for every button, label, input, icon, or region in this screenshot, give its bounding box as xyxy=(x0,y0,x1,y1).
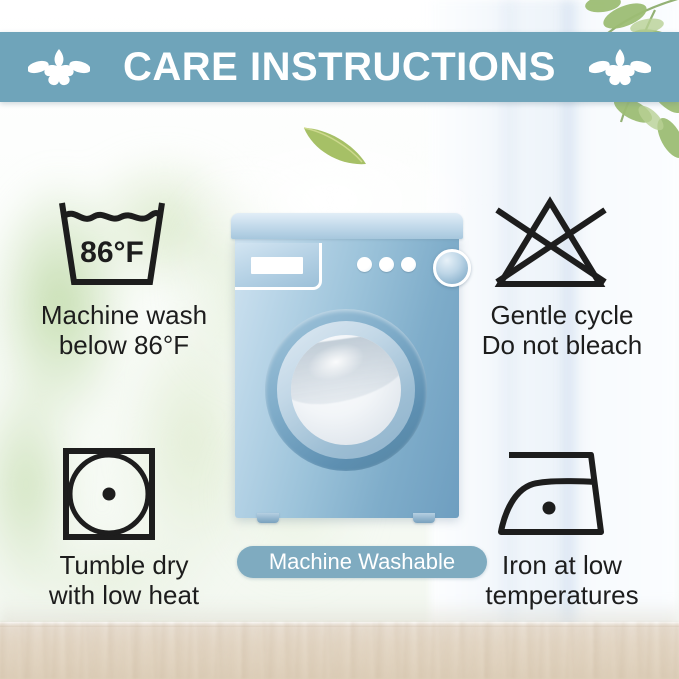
care-instructions-infographic: CARE INSTRUCTIONS xyxy=(0,0,679,679)
status-badge: Machine Washable xyxy=(237,546,487,578)
washing-machine-illustration xyxy=(231,213,463,525)
header-banner: CARE INSTRUCTIONS xyxy=(0,32,679,102)
care-symbol-do-not-bleach: Gentle cycle Do not bleach xyxy=(452,196,672,360)
machine-door xyxy=(265,309,427,471)
care-symbol-label: Tumble dry with low heat xyxy=(14,550,234,610)
machine-door-ring xyxy=(277,321,415,459)
detergent-drawer xyxy=(235,243,322,290)
iron-low-temp-icon xyxy=(487,446,637,542)
detergent-drawer-slot xyxy=(251,257,303,274)
machine-foot xyxy=(257,513,279,523)
control-dot xyxy=(401,257,416,272)
care-symbol-label: Machine wash below 86°F xyxy=(14,300,234,360)
tumble-dry-low-icon xyxy=(49,446,199,542)
control-dot xyxy=(379,257,394,272)
care-symbol-machine-wash: 86°F Machine wash below 86°F xyxy=(14,196,234,360)
do-not-bleach-triangle-icon xyxy=(487,196,637,292)
wash-temperature-value: 86°F xyxy=(80,236,144,269)
control-dot xyxy=(357,257,372,272)
page-title: CARE INSTRUCTIONS xyxy=(0,47,679,87)
care-symbol-label: Iron at low temperatures xyxy=(452,550,672,610)
care-symbol-label: Gentle cycle Do not bleach xyxy=(452,300,672,360)
status-badge-label: Machine Washable xyxy=(237,546,487,578)
fleur-de-lis-icon xyxy=(589,45,651,89)
care-symbol-tumble-dry: Tumble dry with low heat xyxy=(14,446,234,610)
wooden-table-grain xyxy=(0,622,679,679)
machine-door-glass xyxy=(291,335,401,445)
care-symbol-iron: Iron at low temperatures xyxy=(452,446,672,610)
machine-top-panel xyxy=(231,213,463,239)
machine-foot xyxy=(413,513,435,523)
wash-tub-icon: 86°F xyxy=(49,196,199,292)
